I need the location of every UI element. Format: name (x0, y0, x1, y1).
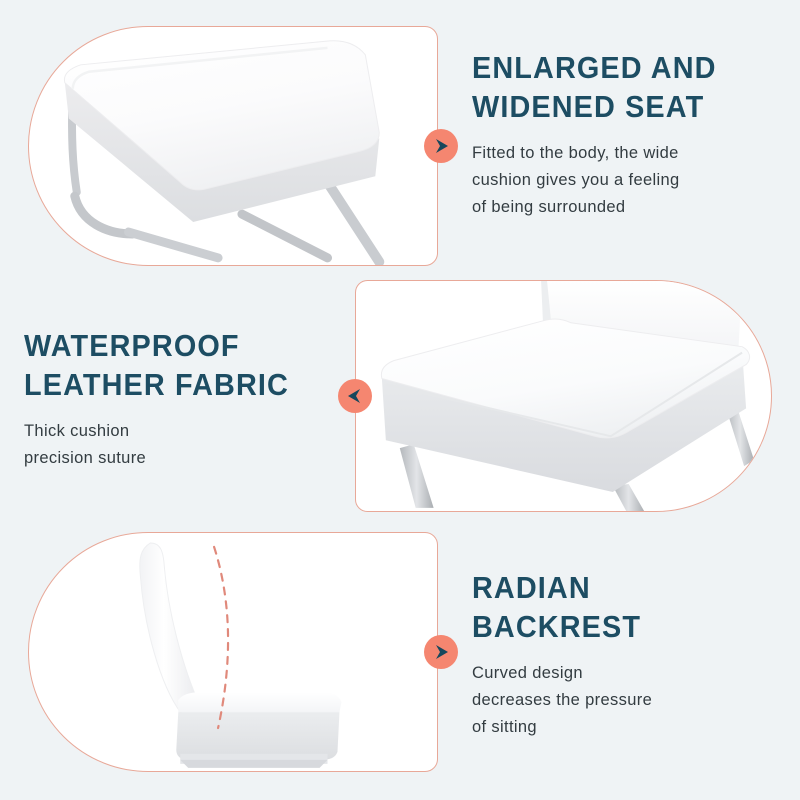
feature-text-seat: ENLARGED AND WIDENED SEAT Fitted to the … (472, 48, 772, 220)
arrow-right-icon (431, 136, 451, 156)
feature-heading-seat: ENLARGED AND WIDENED SEAT (472, 48, 751, 126)
feature-text-fabric: WATERPROOF LEATHER FABRIC Thick cushion … (24, 326, 344, 472)
feature-image-panel-fabric (355, 280, 772, 512)
feature-text-backrest: RADIAN BACKREST Curved design decreases … (472, 568, 772, 740)
arrow-right-icon (431, 642, 451, 662)
arrow-left-icon (345, 386, 365, 406)
feature-image-panel-backrest (28, 532, 438, 772)
arrow-badge-right-backrest (424, 635, 458, 669)
arrow-badge-left-fabric (338, 379, 372, 413)
cushion-closeup-illustration (356, 281, 771, 512)
feature-body-backrest: Curved design decreases the pressure of … (472, 660, 772, 740)
feature-body-fabric: Thick cushion precision suture (24, 418, 344, 471)
feature-body-seat: Fitted to the body, the wide cushion giv… (472, 140, 772, 220)
backrest-profile-illustration (29, 533, 437, 772)
feature-heading-backrest: RADIAN BACKREST (472, 568, 751, 646)
arrow-badge-right-seat (424, 129, 458, 163)
infographic-canvas: ENLARGED AND WIDENED SEAT Fitted to the … (0, 0, 800, 800)
feature-image-panel-seat (28, 26, 438, 266)
seat-top-illustration (29, 27, 437, 266)
feature-heading-fabric: WATERPROOF LEATHER FABRIC (24, 326, 322, 404)
